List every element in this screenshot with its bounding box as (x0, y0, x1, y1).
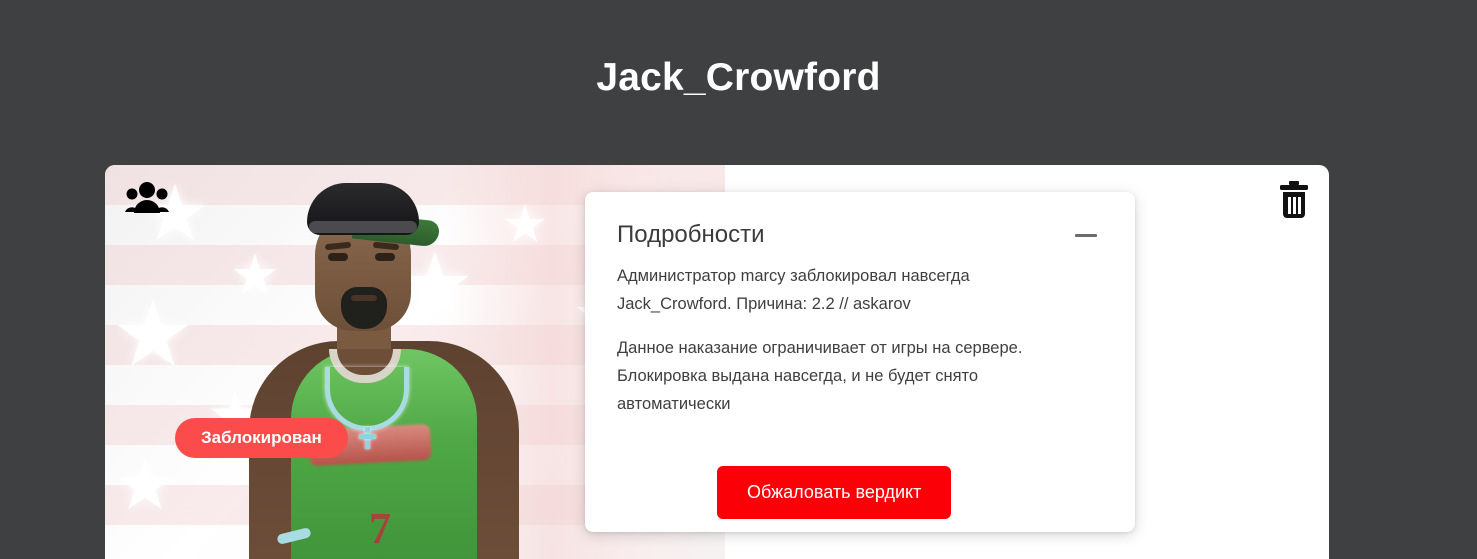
jersey-number: 7 (369, 503, 391, 554)
details-title: Подробности (617, 223, 765, 247)
profile-card: ★ ★ ★ ★ ★ ★ ★ ★ ★ ★ 7 (105, 165, 1329, 559)
people-group-icon[interactable] (125, 181, 169, 217)
page-title: Jack_Crowford (0, 58, 1477, 97)
details-header: Подробности (617, 218, 1103, 252)
status-badge[interactable]: Заблокирован (175, 418, 348, 458)
minus-icon[interactable] (1069, 222, 1103, 248)
player-character: 7 (233, 183, 533, 559)
details-card: Подробности Администратор marcy заблокир… (585, 192, 1135, 532)
details-paragraph-2: Данное наказание ограничивает от игры на… (617, 334, 1087, 418)
appeal-verdict-button[interactable]: Обжаловать вердикт (717, 466, 951, 519)
details-body: Администратор marcy заблокировал навсегд… (617, 262, 1103, 418)
trash-icon[interactable] (1279, 181, 1309, 219)
details-paragraph-1: Администратор marcy заблокировал навсегд… (617, 262, 1087, 318)
